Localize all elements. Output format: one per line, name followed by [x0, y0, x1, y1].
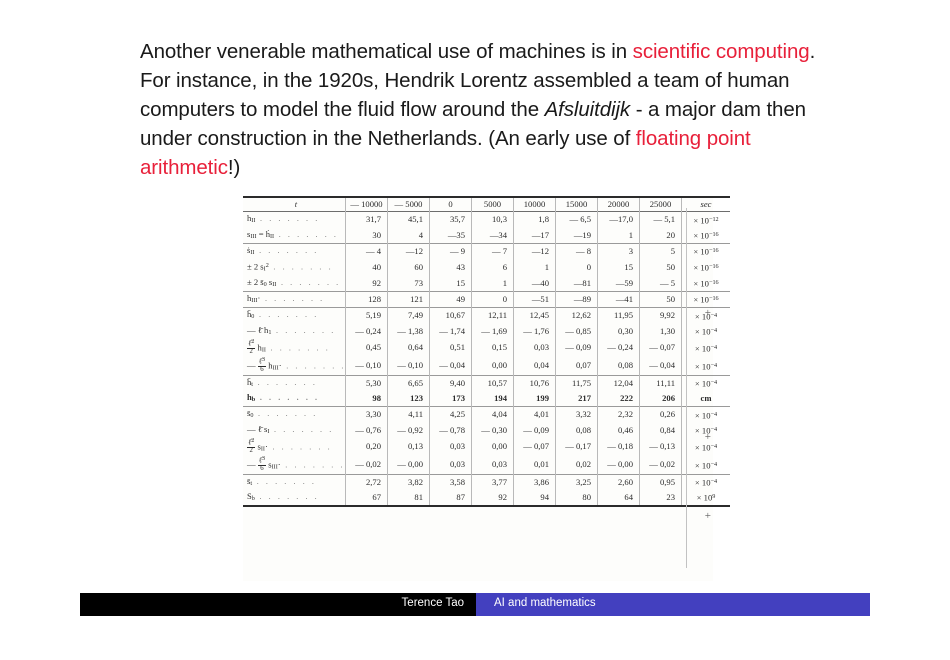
table-row: — ℓ̄ sI . . . . . . .— 0,76— 0,92— 0,78—…: [243, 423, 730, 438]
cell-g5-r3-c2: 0,03: [430, 456, 472, 474]
slide-text-segment-3: Afsluitdijk: [545, 98, 631, 121]
row-unit: × 10−16: [682, 276, 731, 292]
leader-dots: . . . . . . .: [282, 361, 346, 370]
cell-g1-r1-c6: 15: [598, 259, 640, 276]
cell-g5-r1-c3: — 0,30: [472, 423, 514, 438]
row-label: s̄t . . . . . . .: [243, 474, 346, 490]
cell-g0-r0-c4: 1,8: [514, 212, 556, 228]
row-label: hb . . . . . . .: [243, 391, 346, 407]
row-unit: × 10−4: [682, 407, 731, 423]
header-col-6: 20000: [598, 197, 640, 212]
row-unit: × 10−4: [682, 339, 731, 357]
figure-right-rule: [686, 208, 687, 568]
cell-g1-r0-c0: — 4: [346, 243, 388, 259]
cell-g1-r2-c7: — 5: [640, 276, 682, 292]
table-row: hII . . . . . . .31,745,135,710,31,8— 6,…: [243, 212, 730, 228]
cell-g1-r1-c4: 1: [514, 259, 556, 276]
row-label: ± 2 s̄0 sII . . . . . . .: [243, 276, 346, 292]
cell-g6-r1-c0: 67: [346, 490, 388, 506]
row-label: — ℓ̄ sI . . . . . . .: [243, 423, 346, 438]
row-unit: × 10−4: [682, 324, 731, 339]
row-unit: × 10−4: [682, 474, 731, 490]
slide-text-segment-0: Another venerable mathematical use of ma…: [140, 40, 633, 63]
cell-g3-r2-c7: — 0,07: [640, 339, 682, 357]
table-row: sIII = ḣII . . . . . . .304—35—34—17—19…: [243, 228, 730, 244]
cell-g0-r0-c3: 10,3: [472, 212, 514, 228]
cell-g1-r2-c6: —59: [598, 276, 640, 292]
cell-g3-r3-c3: 0,00: [472, 357, 514, 375]
scanned-table-figure: t— 10000— 50000500010000150002000025000s…: [243, 196, 713, 581]
cell-g6-r0-c4: 3,86: [514, 474, 556, 490]
footer-title-bar: AI and mathematics: [476, 593, 870, 616]
cell-g0-r1-c3: —34: [472, 228, 514, 244]
cell-g6-r1-c3: 92: [472, 490, 514, 506]
cell-g3-r0-c5: 12,62: [556, 308, 598, 324]
cell-g4-r0-c2: 9,40: [430, 375, 472, 391]
row-label: ℓ̅22 hII . . . . . . .: [243, 339, 346, 357]
cell-g0-r0-c2: 35,7: [430, 212, 472, 228]
cell-g5-r3-c0: — 0,02: [346, 456, 388, 474]
cell-g4-r1-c4: 199: [514, 391, 556, 407]
cell-g1-r0-c6: 3: [598, 243, 640, 259]
row-label: hII . . . . . . .: [243, 212, 346, 228]
cell-g4-r1-c2: 173: [430, 391, 472, 407]
cell-g3-r1-c7: 1,30: [640, 324, 682, 339]
cell-g1-r2-c0: 92: [346, 276, 388, 292]
slide-footer: Terence Tao AI and mathematics: [0, 593, 950, 616]
cell-g3-r0-c2: 10,67: [430, 308, 472, 324]
table-row: h̄0 . . . . . . .5,197,4910,6712,1112,45…: [243, 308, 730, 324]
cell-g5-r1-c4: — 0,09: [514, 423, 556, 438]
leader-dots: . . . . . . .: [281, 460, 345, 469]
header-col-7: 25000: [640, 197, 682, 212]
leader-dots: . . . . . . .: [253, 409, 317, 418]
table-row: s̄t . . . . . . .2,723,823,583,773,863,2…: [243, 474, 730, 490]
cell-g5-r2-c7: — 0,13: [640, 438, 682, 456]
cell-g1-r2-c4: —40: [514, 276, 556, 292]
cell-g3-r1-c3: — 1,69: [472, 324, 514, 339]
cell-g3-r3-c2: — 0,04: [430, 357, 472, 375]
cell-g4-r0-c6: 12,04: [598, 375, 640, 391]
leader-dots: . . . . . . .: [254, 310, 318, 319]
cell-g4-r0-c3: 10,57: [472, 375, 514, 391]
row-unit: × 10−4: [682, 357, 731, 375]
cell-g2-r0-c7: 50: [640, 292, 682, 308]
cell-g2-r0-c4: —51: [514, 292, 556, 308]
leader-dots: . . . . . . .: [255, 393, 319, 402]
cell-g1-r0-c4: —12: [514, 243, 556, 259]
table-row: hIII· . . . . . . .128121490—51—89—4150×…: [243, 292, 730, 308]
cell-g6-r0-c6: 2,60: [598, 474, 640, 490]
table-row: ṡII . . . . . . .— 4—12— 9— 7—12— 835× …: [243, 243, 730, 259]
cell-g0-r0-c1: 45,1: [388, 212, 430, 228]
cell-g4-r1-c6: 222: [598, 391, 640, 407]
cell-g5-r3-c3: 0,03: [472, 456, 514, 474]
cell-g3-r0-c0: 5,19: [346, 308, 388, 324]
header-col-1: — 5000: [388, 197, 430, 212]
leader-dots: . . . . . . .: [255, 492, 319, 501]
cell-g5-r1-c7: 0,84: [640, 423, 682, 438]
cell-g1-r1-c3: 6: [472, 259, 514, 276]
table-row: ℓ̅22 sII· . . . . . . .0,200,130,030,00—…: [243, 438, 730, 456]
cell-g3-r0-c1: 7,49: [388, 308, 430, 324]
table-row: — ℓ̅36 hIII· . . . . . . .— 0,10— 0,10— …: [243, 357, 730, 375]
footer-title-label: AI and mathematics: [494, 597, 596, 609]
cell-g4-r1-c0: 98: [346, 391, 388, 407]
cell-g6-r1-c2: 87: [430, 490, 472, 506]
cell-g4-r1-c1: 123: [388, 391, 430, 407]
row-unit: × 109: [682, 490, 731, 506]
cell-g0-r1-c7: 20: [640, 228, 682, 244]
cell-g3-r0-c4: 12,45: [514, 308, 556, 324]
row-label: h̄t . . . . . . .: [243, 375, 346, 391]
cell-g2-r0-c0: 128: [346, 292, 388, 308]
cell-g6-r0-c2: 3,58: [430, 474, 472, 490]
header-unit-cell: sec: [682, 197, 731, 212]
cell-g3-r0-c7: 9,92: [640, 308, 682, 324]
cell-g6-r1-c6: 64: [598, 490, 640, 506]
row-label: Sb . . . . . . .: [243, 490, 346, 506]
cell-g3-r1-c1: — 1,38: [388, 324, 430, 339]
cell-g3-r2-c1: 0,64: [388, 339, 430, 357]
row-label: h̄0 . . . . . . .: [243, 308, 346, 324]
cell-g1-r2-c5: —81: [556, 276, 598, 292]
row-label: — ℓ̅36 sIII· . . . . . . .: [243, 456, 346, 474]
cell-g3-r3-c0: — 0,10: [346, 357, 388, 375]
leader-dots: . . . . . . .: [268, 443, 332, 452]
cell-g4-r0-c4: 10,76: [514, 375, 556, 391]
cell-g0-r1-c5: —19: [556, 228, 598, 244]
leader-dots: . . . . . . .: [255, 214, 319, 223]
header-col-3: 5000: [472, 197, 514, 212]
cell-g3-r2-c6: — 0,24: [598, 339, 640, 357]
cell-g5-r2-c6: — 0,18: [598, 438, 640, 456]
leader-dots: . . . . . . .: [276, 278, 340, 287]
cell-g3-r0-c6: 11,95: [598, 308, 640, 324]
cell-g1-r1-c1: 60: [388, 259, 430, 276]
row-unit: × 10−4: [682, 456, 731, 474]
cell-g3-r3-c5: 0,07: [556, 357, 598, 375]
cell-g3-r1-c6: 0,30: [598, 324, 640, 339]
cell-g5-r0-c0: 3,30: [346, 407, 388, 423]
slide-body-text: Another venerable mathematical use of ma…: [140, 37, 820, 182]
cell-g1-r0-c2: — 9: [430, 243, 472, 259]
table-header-row: t— 10000— 50000500010000150002000025000s…: [243, 197, 730, 212]
cell-g5-r3-c4: 0,01: [514, 456, 556, 474]
row-unit: cm: [682, 391, 731, 407]
cell-g5-r3-c6: — 0,00: [598, 456, 640, 474]
cell-g4-r0-c7: 11,11: [640, 375, 682, 391]
cell-g3-r2-c3: 0,15: [472, 339, 514, 357]
cell-g0-r1-c0: 30: [346, 228, 388, 244]
cell-g2-r0-c6: —41: [598, 292, 640, 308]
cell-g6-r0-c1: 3,82: [388, 474, 430, 490]
cell-g1-r1-c0: 40: [346, 259, 388, 276]
cell-g0-r1-c6: 1: [598, 228, 640, 244]
leader-dots: . . . . . . .: [260, 294, 324, 303]
cell-g1-r1-c5: 0: [556, 259, 598, 276]
leader-dots: . . . . . . .: [274, 230, 338, 239]
cell-g5-r1-c1: — 0,92: [388, 423, 430, 438]
table-row: ± 2 s̄0 sII . . . . . . .9273151—40—81—5…: [243, 276, 730, 292]
cell-g5-r0-c2: 4,25: [430, 407, 472, 423]
row-unit: × 10−12: [682, 212, 731, 228]
cell-g1-r0-c1: —12: [388, 243, 430, 259]
cell-g5-r3-c7: — 0,02: [640, 456, 682, 474]
cell-g4-r0-c1: 6,65: [388, 375, 430, 391]
cell-g3-r2-c5: — 0,09: [556, 339, 598, 357]
cell-g5-r1-c0: — 0,76: [346, 423, 388, 438]
cell-g1-r1-c7: 50: [640, 259, 682, 276]
cell-g1-r2-c3: 1: [472, 276, 514, 292]
header-label-cell: t: [243, 197, 346, 212]
cell-g5-r0-c7: 0,26: [640, 407, 682, 423]
cell-g3-r2-c4: 0,03: [514, 339, 556, 357]
leader-dots: . . . . . . .: [269, 262, 333, 271]
table-row: h̄t . . . . . . .5,306,659,4010,5710,761…: [243, 375, 730, 391]
registration-mark-1: +: [705, 432, 711, 443]
leader-dots: . . . . . . .: [254, 246, 318, 255]
cell-g5-r2-c1: 0,13: [388, 438, 430, 456]
cell-g3-r3-c1: — 0,10: [388, 357, 430, 375]
cell-g6-r0-c5: 3,25: [556, 474, 598, 490]
cell-g3-r1-c0: — 0,24: [346, 324, 388, 339]
row-label: ℓ̅22 sII· . . . . . . .: [243, 438, 346, 456]
cell-g0-r1-c4: —17: [514, 228, 556, 244]
cell-g6-r0-c3: 3,77: [472, 474, 514, 490]
cell-g0-r1-c2: —35: [430, 228, 472, 244]
row-unit: × 10−4: [682, 375, 731, 391]
cell-g4-r1-c3: 194: [472, 391, 514, 407]
header-col-2: 0: [430, 197, 472, 212]
cell-g5-r0-c3: 4,04: [472, 407, 514, 423]
registration-mark-0: +: [705, 308, 711, 319]
table-row: s̄0 . . . . . . .3,304,114,254,044,013,3…: [243, 407, 730, 423]
table-row: — ℓ̅36 sIII· . . . . . . .— 0,02— 0,000,…: [243, 456, 730, 474]
cell-g0-r0-c7: — 5,1: [640, 212, 682, 228]
cell-g0-r1-c1: 4: [388, 228, 430, 244]
row-label: s̄0 . . . . . . .: [243, 407, 346, 423]
cell-g6-r1-c7: 23: [640, 490, 682, 506]
cell-g2-r0-c2: 49: [430, 292, 472, 308]
cell-g4-r0-c0: 5,30: [346, 375, 388, 391]
cell-g6-r1-c4: 94: [514, 490, 556, 506]
leader-dots: . . . . . . .: [252, 477, 316, 486]
leader-dots: . . . . . . .: [253, 378, 317, 387]
cell-g4-r1-c5: 217: [556, 391, 598, 407]
row-unit: × 10−16: [682, 243, 731, 259]
table-row: ± 2 sI2 . . . . . . .4060436101550× 10−1…: [243, 259, 730, 276]
header-col-0: — 10000: [346, 197, 388, 212]
cell-g0-r0-c0: 31,7: [346, 212, 388, 228]
cell-g4-r1-c7: 206: [640, 391, 682, 407]
slide-text-segment-1: scientific computing: [633, 40, 810, 63]
table-row: hb . . . . . . .98123173194199217222206c…: [243, 391, 730, 407]
row-unit: × 10−16: [682, 292, 731, 308]
row-label: ṡII . . . . . . .: [243, 243, 346, 259]
cell-g5-r1-c2: — 0,78: [430, 423, 472, 438]
cell-g5-r0-c1: 4,11: [388, 407, 430, 423]
table-row: ℓ̅22 hII . . . . . . .0,450,640,510,150,…: [243, 339, 730, 357]
cell-g3-r2-c0: 0,45: [346, 339, 388, 357]
cell-g5-r2-c4: — 0,07: [514, 438, 556, 456]
cell-g1-r1-c2: 43: [430, 259, 472, 276]
registration-mark-2: +: [705, 511, 711, 522]
cell-g3-r1-c5: — 0,85: [556, 324, 598, 339]
cell-g1-r2-c1: 73: [388, 276, 430, 292]
cell-g5-r3-c5: 0,02: [556, 456, 598, 474]
cell-g5-r2-c0: 0,20: [346, 438, 388, 456]
cell-g6-r0-c7: 0,95: [640, 474, 682, 490]
cell-g6-r0-c0: 2,72: [346, 474, 388, 490]
cell-g6-r1-c1: 81: [388, 490, 430, 506]
cell-g4-r0-c5: 11,75: [556, 375, 598, 391]
cell-g0-r0-c5: — 6,5: [556, 212, 598, 228]
cell-g5-r1-c5: 0,08: [556, 423, 598, 438]
cell-g1-r0-c3: — 7: [472, 243, 514, 259]
row-label: ± 2 sI2 . . . . . . .: [243, 259, 346, 276]
cell-g6-r1-c5: 80: [556, 490, 598, 506]
cell-g1-r2-c2: 15: [430, 276, 472, 292]
slide-text-segment-6: !): [228, 156, 240, 179]
table-row: — ℓ̄ h1 . . . . . . .— 0,24— 1,38— 1,74—…: [243, 324, 730, 339]
row-label: — ℓ̄ h1 . . . . . . .: [243, 324, 346, 339]
header-col-4: 10000: [514, 197, 556, 212]
cell-g5-r0-c6: 2,32: [598, 407, 640, 423]
cell-g3-r3-c6: 0,08: [598, 357, 640, 375]
cell-g0-r0-c6: —17,0: [598, 212, 640, 228]
cell-g2-r0-c1: 121: [388, 292, 430, 308]
cell-g3-r1-c4: — 1,76: [514, 324, 556, 339]
cell-g3-r2-c2: 0,51: [430, 339, 472, 357]
leader-dots: . . . . . . .: [271, 326, 335, 335]
cell-g3-r0-c3: 12,11: [472, 308, 514, 324]
row-unit: × 10−16: [682, 228, 731, 244]
cell-g5-r2-c2: 0,03: [430, 438, 472, 456]
numerical-table: t— 10000— 50000500010000150002000025000s…: [243, 196, 730, 507]
row-label: — ℓ̅36 hIII· . . . . . . .: [243, 357, 346, 375]
cell-g5-r2-c3: 0,00: [472, 438, 514, 456]
cell-g5-r3-c1: — 0,00: [388, 456, 430, 474]
cell-g5-r0-c5: 3,32: [556, 407, 598, 423]
cell-g3-r3-c7: — 0,04: [640, 357, 682, 375]
cell-g1-r0-c7: 5: [640, 243, 682, 259]
cell-g5-r2-c5: — 0,17: [556, 438, 598, 456]
footer-author-label: Terence Tao: [402, 597, 464, 609]
table-row: Sb . . . . . . .6781879294806423× 109: [243, 490, 730, 506]
cell-g2-r0-c5: —89: [556, 292, 598, 308]
cell-g3-r1-c2: — 1,74: [430, 324, 472, 339]
cell-g1-r0-c5: — 8: [556, 243, 598, 259]
cell-g5-r0-c4: 4,01: [514, 407, 556, 423]
cell-g3-r3-c4: 0,04: [514, 357, 556, 375]
footer-author-bar: Terence Tao: [80, 593, 476, 616]
leader-dots: . . . . . . .: [269, 425, 333, 434]
cell-g5-r1-c6: 0,46: [598, 423, 640, 438]
header-col-5: 15000: [556, 197, 598, 212]
row-label: hIII· . . . . . . .: [243, 292, 346, 308]
row-label: sIII = ḣII . . . . . . .: [243, 228, 346, 244]
cell-g2-r0-c3: 0: [472, 292, 514, 308]
row-unit: × 10−16: [682, 259, 731, 276]
leader-dots: . . . . . . .: [266, 344, 330, 353]
